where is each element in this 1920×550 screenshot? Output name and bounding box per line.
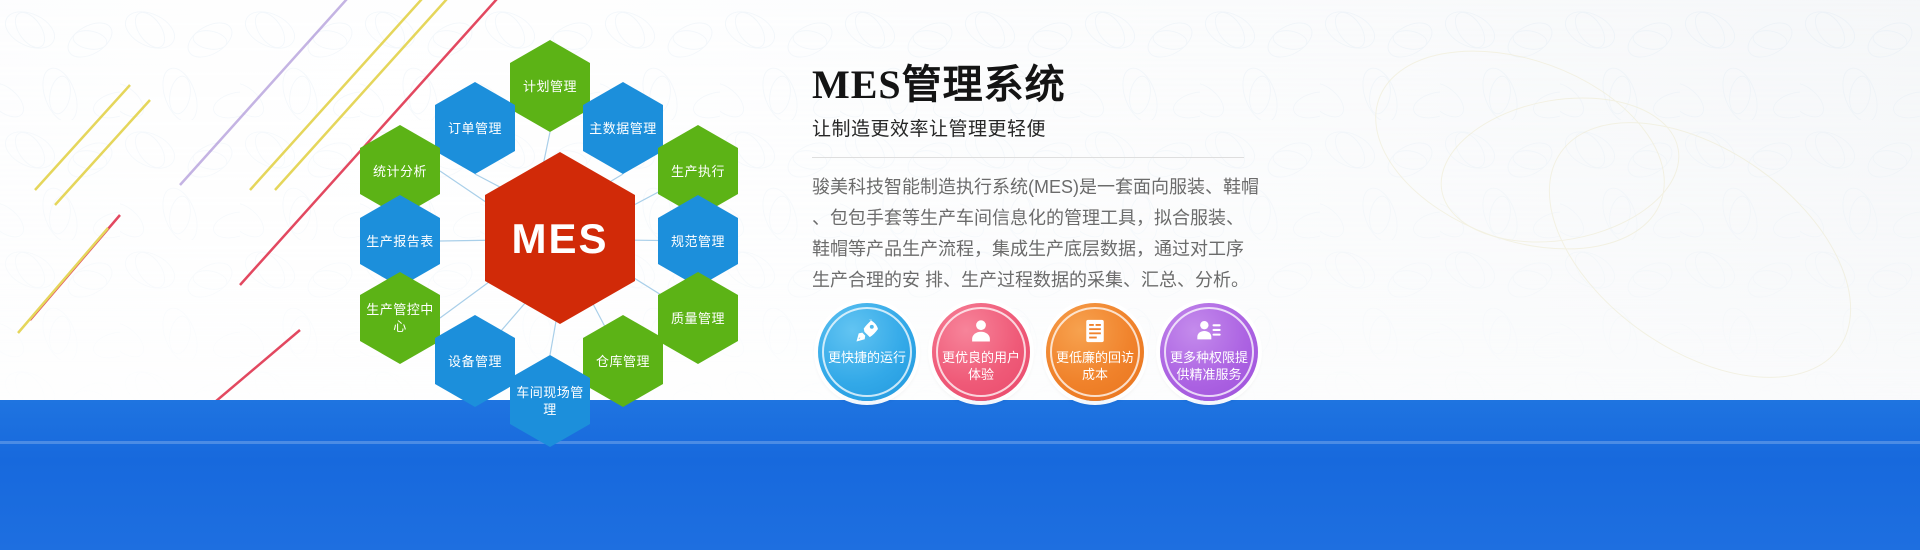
paragraph-line: 生产合理的安 排、生产过程数据的采集、汇总、分析。 xyxy=(812,265,1264,296)
hex-label: 统计分析 xyxy=(373,163,427,180)
hex-label: 计划管理 xyxy=(523,78,577,95)
badge-label: 更多种权限提供精准服务 xyxy=(1167,349,1251,383)
banner-stage: MES 计划管理 订单管理 主数据管理 统计分析 生产执行 生产报告表 规范管理… xyxy=(0,0,1920,550)
hex-label: 设备管理 xyxy=(448,353,502,370)
badge-better-user-experience[interactable]: 更优良的用户体验 xyxy=(932,303,1030,401)
hex-label: 仓库管理 xyxy=(596,353,650,370)
badge-multi-permission-service[interactable]: 更多种权限提供精准服务 xyxy=(1160,303,1258,401)
user-icon xyxy=(966,316,996,346)
hex-label: 质量管理 xyxy=(671,310,725,327)
hex-label: 规范管理 xyxy=(671,233,725,250)
hex-label: 主数据管理 xyxy=(589,120,657,137)
feature-badge-list: 更快捷的运行 更优良的用户体验 xyxy=(818,303,1258,401)
divider xyxy=(812,157,1244,158)
badge-label: 更优良的用户体验 xyxy=(939,349,1023,383)
content-column: MES管理系统 让制造更效率让管理更轻便 骏美科技智能制造执行系统(MES)是一… xyxy=(812,62,1282,296)
rocket-icon xyxy=(852,316,882,346)
blue-band-highlight-strip xyxy=(0,441,1920,444)
description-paragraph: 骏美科技智能制造执行系统(MES)是一套面向服装、鞋帽 、包包手套等生产车间信息… xyxy=(812,172,1264,296)
hex-label: 生产执行 xyxy=(671,163,725,180)
badge-label: 更快捷的运行 xyxy=(825,349,909,366)
hex-label: 订单管理 xyxy=(448,120,502,137)
hex-label: 车间现场管理 xyxy=(510,384,590,418)
paragraph-line: 、包包手套等生产车间信息化的管理工具，拟合服装、 xyxy=(812,203,1264,234)
hex-center-label: MES xyxy=(511,230,608,247)
paragraph-line: 鞋帽等产品生产流程，集成生产底层数据，通过对工序 xyxy=(812,234,1264,265)
badge-label: 更低廉的回访成本 xyxy=(1053,349,1137,383)
badge-faster-operation[interactable]: 更快捷的运行 xyxy=(818,303,916,401)
paragraph-line: 骏美科技智能制造执行系统(MES)是一套面向服装、鞋帽 xyxy=(812,172,1264,203)
page-title: MES管理系统 xyxy=(812,62,1282,108)
page-subtitle: 让制造更效率让管理更轻便 xyxy=(812,114,1282,141)
document-list-icon xyxy=(1080,316,1110,346)
user-permissions-icon xyxy=(1194,316,1224,346)
mes-hexagon-diagram: MES 计划管理 订单管理 主数据管理 统计分析 生产执行 生产报告表 规范管理… xyxy=(330,10,790,410)
hex-label: 生产管控中心 xyxy=(360,301,440,335)
badge-lower-revisit-cost[interactable]: 更低廉的回访成本 xyxy=(1046,303,1144,401)
background-blue-band xyxy=(0,400,1920,550)
hex-label: 生产报告表 xyxy=(366,233,434,250)
